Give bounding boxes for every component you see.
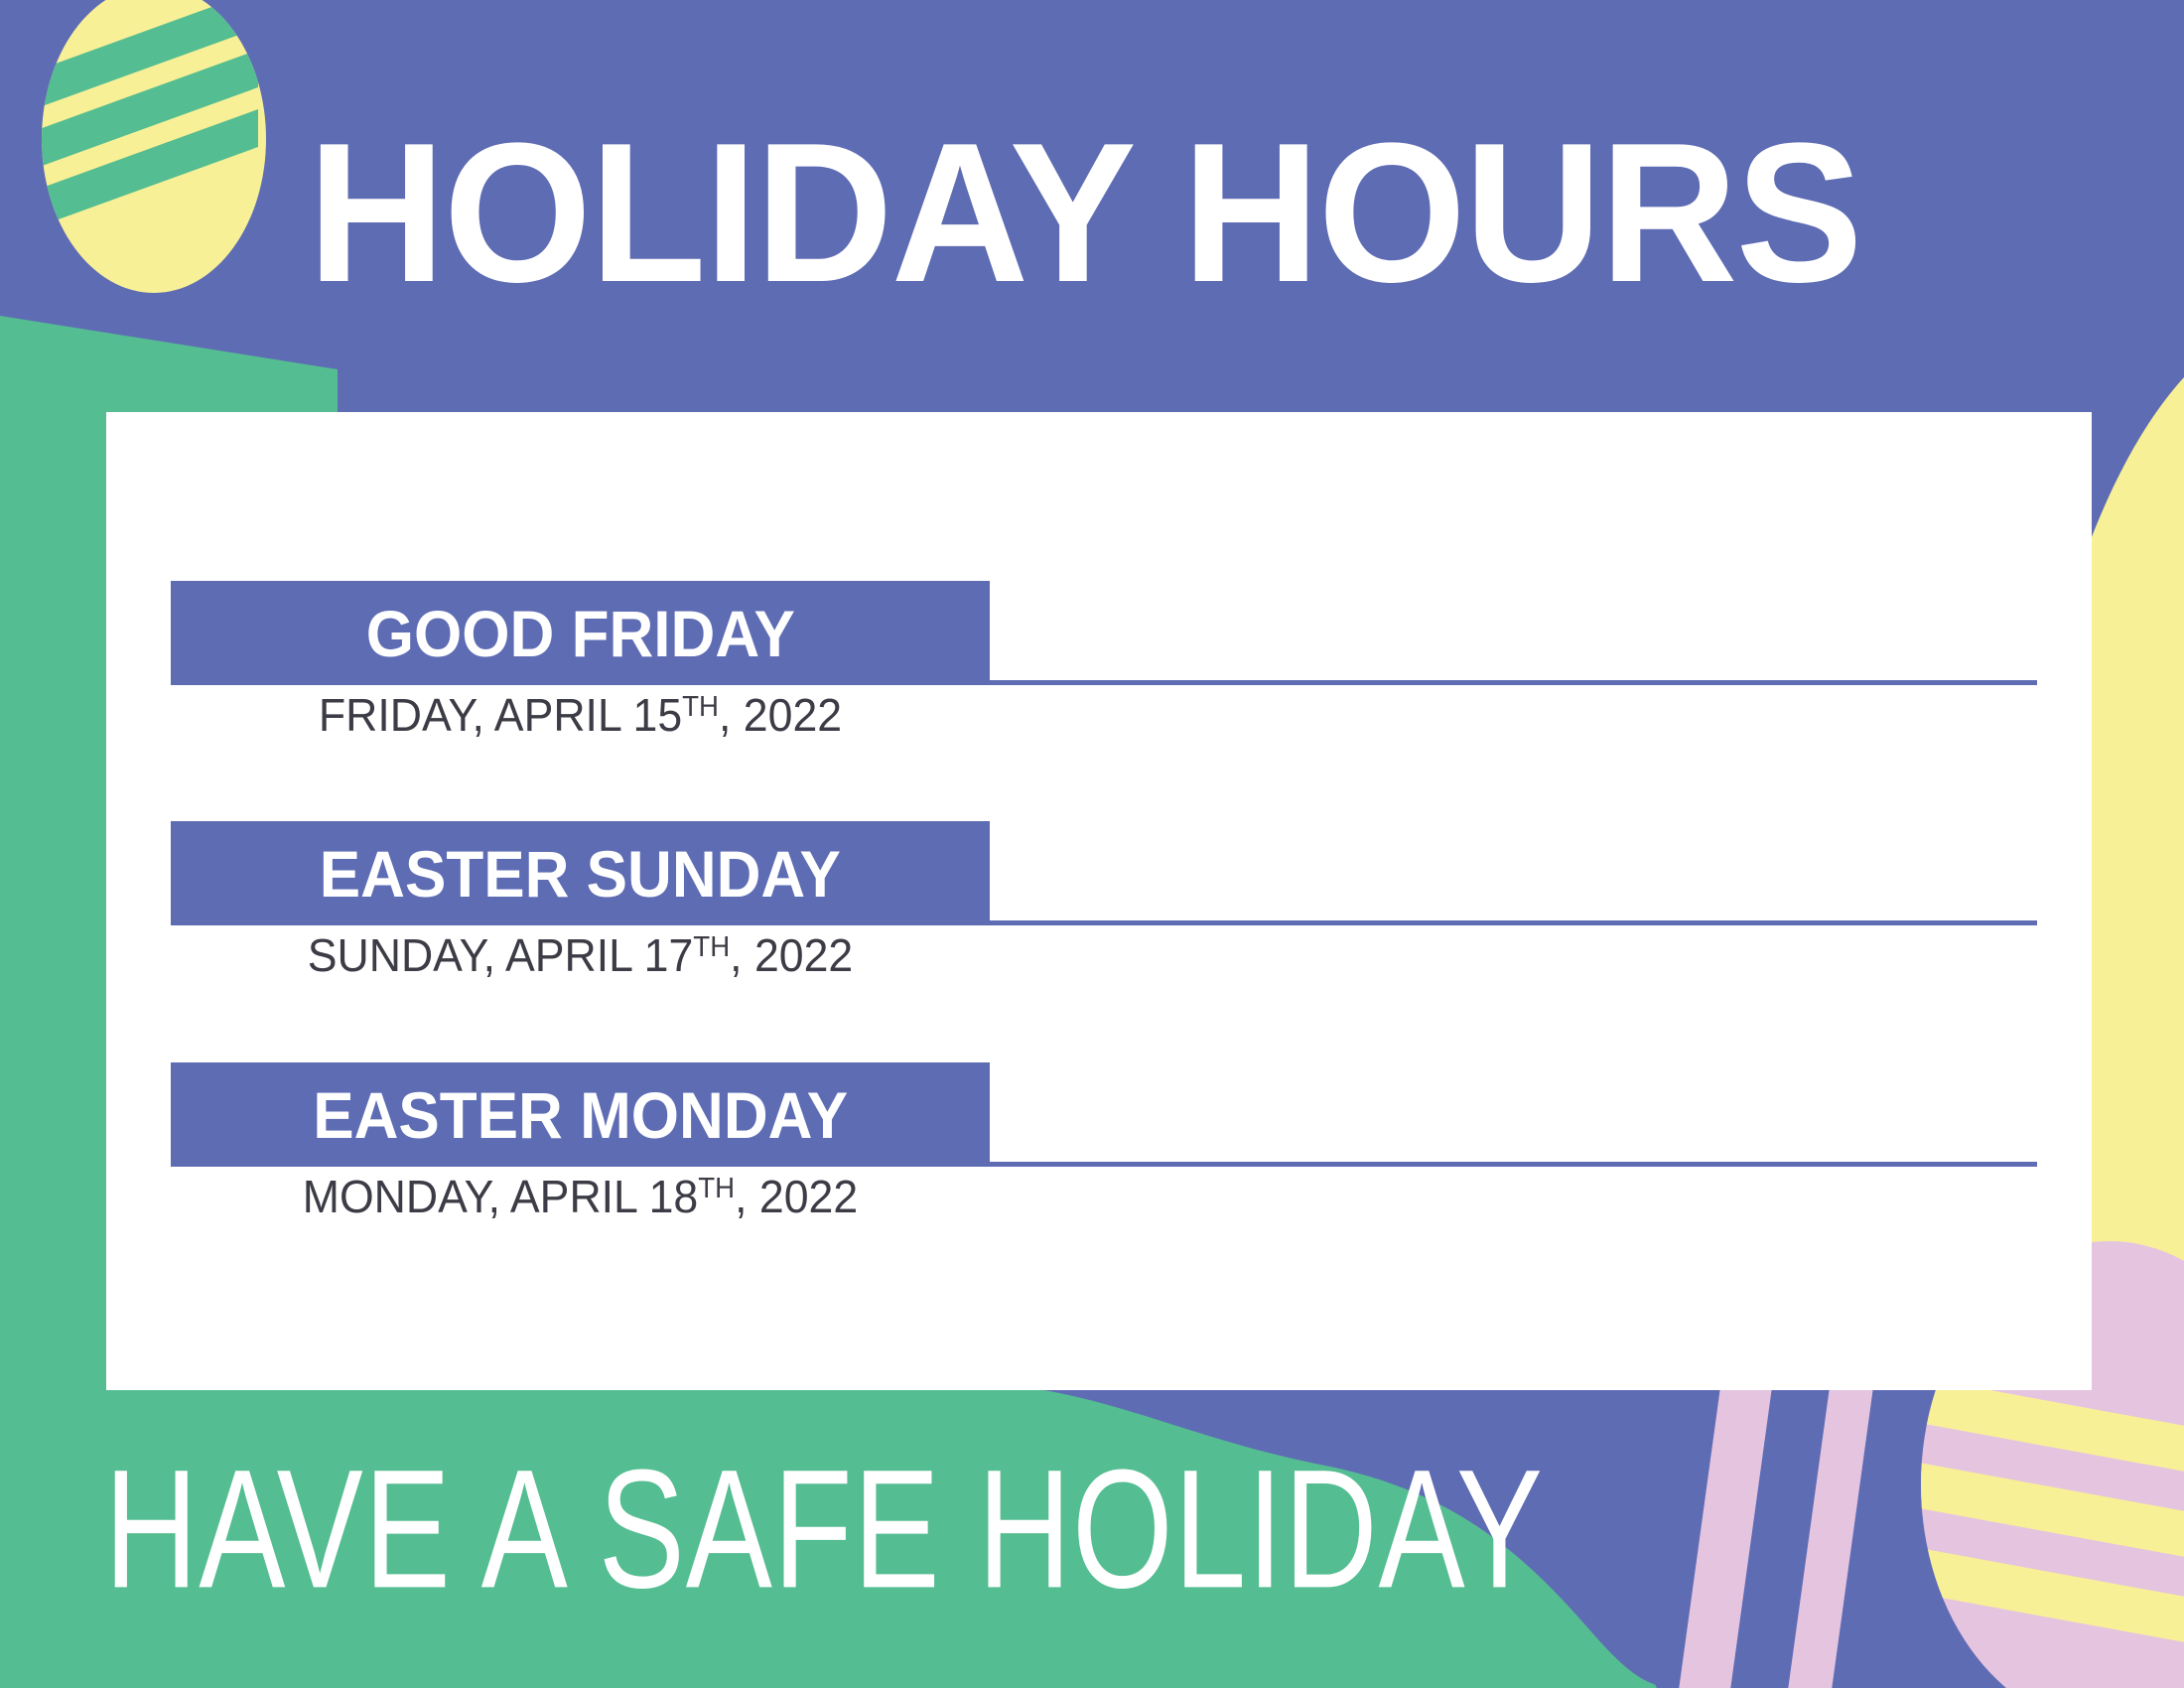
holiday-date-prefix: SUNDAY, APRIL 17 [308, 929, 694, 981]
holiday-date: MONDAY, APRIL 18TH, 2022 [183, 1170, 977, 1223]
holiday-entry-row: EASTER MONDAY [106, 1062, 2092, 1167]
holiday-name-bar: EASTER SUNDAY [171, 821, 990, 925]
holiday-hours-rule [990, 680, 2037, 685]
holiday-hours-poster: HOLIDAY HOURS GOOD FRIDAY FRIDAY, APRIL … [0, 0, 2184, 1688]
holiday-name-label: GOOD FRIDAY [365, 596, 794, 671]
holiday-entry: GOOD FRIDAY FRIDAY, APRIL 15TH, 2022 [106, 581, 2092, 685]
holiday-date-ordinal: TH [698, 1173, 735, 1204]
holiday-entry-row: GOOD FRIDAY [106, 581, 2092, 685]
holiday-name-label: EASTER MONDAY [313, 1077, 848, 1153]
holiday-date-year: , 2022 [719, 689, 842, 741]
holiday-date-prefix: MONDAY, APRIL 18 [303, 1171, 698, 1222]
holiday-date-year: , 2022 [730, 929, 853, 981]
holiday-hours-rule [990, 1162, 2037, 1167]
holiday-card: GOOD FRIDAY FRIDAY, APRIL 15TH, 2022 EAS… [106, 412, 2092, 1390]
holiday-entry: EASTER SUNDAY SUNDAY, APRIL 17TH, 2022 [106, 821, 2092, 925]
holiday-hours-rule [990, 920, 2037, 925]
holiday-name-label: EASTER SUNDAY [320, 836, 841, 912]
footer-message: HAVE A SAFE HOLIDAY [104, 1445, 1544, 1614]
holiday-date-year: , 2022 [735, 1171, 858, 1222]
holiday-name-bar: EASTER MONDAY [171, 1062, 990, 1167]
holiday-entry: EASTER MONDAY MONDAY, APRIL 18TH, 2022 [106, 1062, 2092, 1167]
holiday-entry-row: EASTER SUNDAY [106, 821, 2092, 925]
holiday-date-ordinal: TH [682, 691, 719, 723]
holiday-name-bar: GOOD FRIDAY [171, 581, 990, 685]
holiday-date: SUNDAY, APRIL 17TH, 2022 [183, 928, 977, 982]
page-title: HOLIDAY HOURS [308, 114, 1833, 313]
holiday-date-prefix: FRIDAY, APRIL 15 [319, 689, 682, 741]
striped-egg-yellow-green-icon [30, 0, 278, 298]
holiday-date-ordinal: TH [693, 931, 730, 963]
holiday-date: FRIDAY, APRIL 15TH, 2022 [183, 688, 977, 742]
